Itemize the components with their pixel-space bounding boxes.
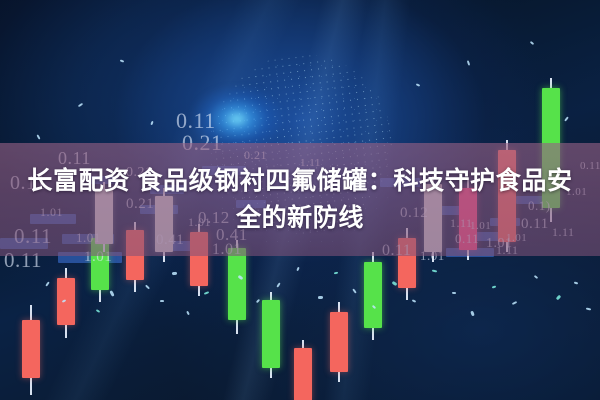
banner-image: 0.110.210.110.110.110.111.011.011.011.01…: [0, 0, 600, 400]
headline-line-1: 长富配资 食品级钢衬四氟储罐：科技守护食品安: [27, 166, 572, 197]
headline-line-2: 全的新防线: [236, 203, 364, 234]
headline: 长富配资 食品级钢衬四氟储罐：科技守护食品安 全的新防线: [0, 143, 600, 256]
